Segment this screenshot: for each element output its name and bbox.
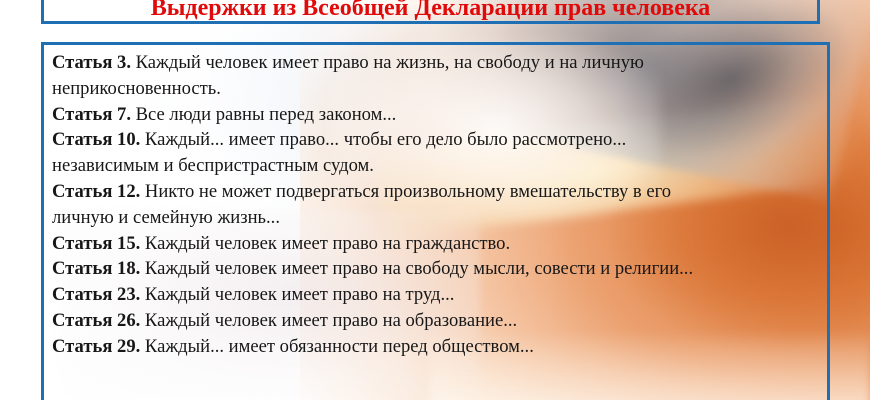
articles-box: Статья 3. Каждый человек имеет право на … bbox=[41, 42, 830, 400]
article-continuation-line: неприкосновенность. bbox=[52, 76, 821, 102]
article-text: Каждый... имеет обязанности перед общест… bbox=[140, 336, 534, 357]
article-line: Статья 26. Каждый человек имеет право на… bbox=[52, 308, 821, 334]
article-text: Каждый человек имеет право на свободу мы… bbox=[140, 258, 693, 279]
article-label: Статья 23. bbox=[52, 284, 140, 305]
slide-canvas: Выдержки из Всеобщей Декларации прав чел… bbox=[0, 0, 870, 400]
article-line: Статья 3. Каждый человек имеет право на … bbox=[52, 50, 821, 76]
article-line: Статья 12. Никто не может подвергаться п… bbox=[52, 179, 821, 205]
article-line: Статья 23. Каждый человек имеет право на… bbox=[52, 282, 821, 308]
article-label: Статья 15. bbox=[52, 233, 140, 254]
article-text: Никто не может подвергаться произвольном… bbox=[140, 181, 671, 202]
article-label: Статья 26. bbox=[52, 310, 140, 331]
article-text: Каждый... имеет право... чтобы его дело … bbox=[140, 129, 626, 150]
article-line: Статья 29. Каждый... имеет обязанности п… bbox=[52, 334, 821, 360]
article-label: Статья 10. bbox=[52, 129, 140, 150]
article-label: Статья 7. bbox=[52, 104, 131, 125]
title-box: Выдержки из Всеобщей Декларации прав чел… bbox=[41, 0, 820, 24]
background-left-gutter bbox=[0, 0, 42, 400]
article-label: Статья 29. bbox=[52, 336, 140, 357]
article-text: Все люди равны перед законом... bbox=[131, 104, 396, 125]
article-label: Статья 12. bbox=[52, 181, 140, 202]
article-line: Статья 18. Каждый человек имеет право на… bbox=[52, 256, 821, 282]
article-text: Каждый человек имеет право на гражданств… bbox=[140, 233, 510, 254]
article-line: Статья 10. Каждый... имеет право... чтоб… bbox=[52, 127, 821, 153]
article-continuation-line: личную и семейную жизнь... bbox=[52, 205, 821, 231]
page-title: Выдержки из Всеобщей Декларации прав чел… bbox=[151, 0, 711, 21]
article-line: Статья 15. Каждый человек имеет право на… bbox=[52, 231, 821, 257]
article-label: Статья 3. bbox=[52, 52, 131, 73]
article-text: Каждый человек имеет право на образовани… bbox=[140, 310, 517, 331]
article-text: Каждый человек имеет право на труд... bbox=[140, 284, 454, 305]
article-label: Статья 18. bbox=[52, 258, 140, 279]
article-text: Каждый человек имеет право на жизнь, на … bbox=[131, 52, 644, 73]
article-continuation-line: независимым и беспристрастным судом. bbox=[52, 153, 821, 179]
article-line: Статья 7. Все люди равны перед законом..… bbox=[52, 102, 821, 128]
articles-list: Статья 3. Каждый человек имеет право на … bbox=[44, 45, 827, 360]
